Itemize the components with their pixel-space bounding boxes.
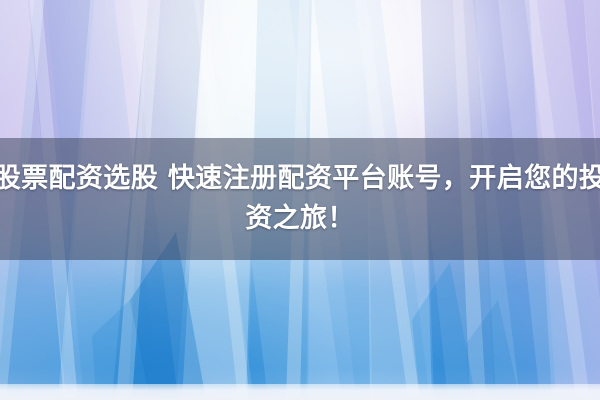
bottom-light-band	[0, 384, 600, 400]
promo-banner: 股票配资选股 快速注册配资平台账号，开启您的投 资之旅！	[0, 0, 600, 400]
caption-line-2: 资之旅！	[245, 199, 355, 239]
caption-line-1: 股票配资选股 快速注册配资平台账号，开启您的投	[0, 159, 600, 199]
banner-caption: 股票配资选股 快速注册配资平台账号，开启您的投 资之旅！	[0, 138, 600, 260]
